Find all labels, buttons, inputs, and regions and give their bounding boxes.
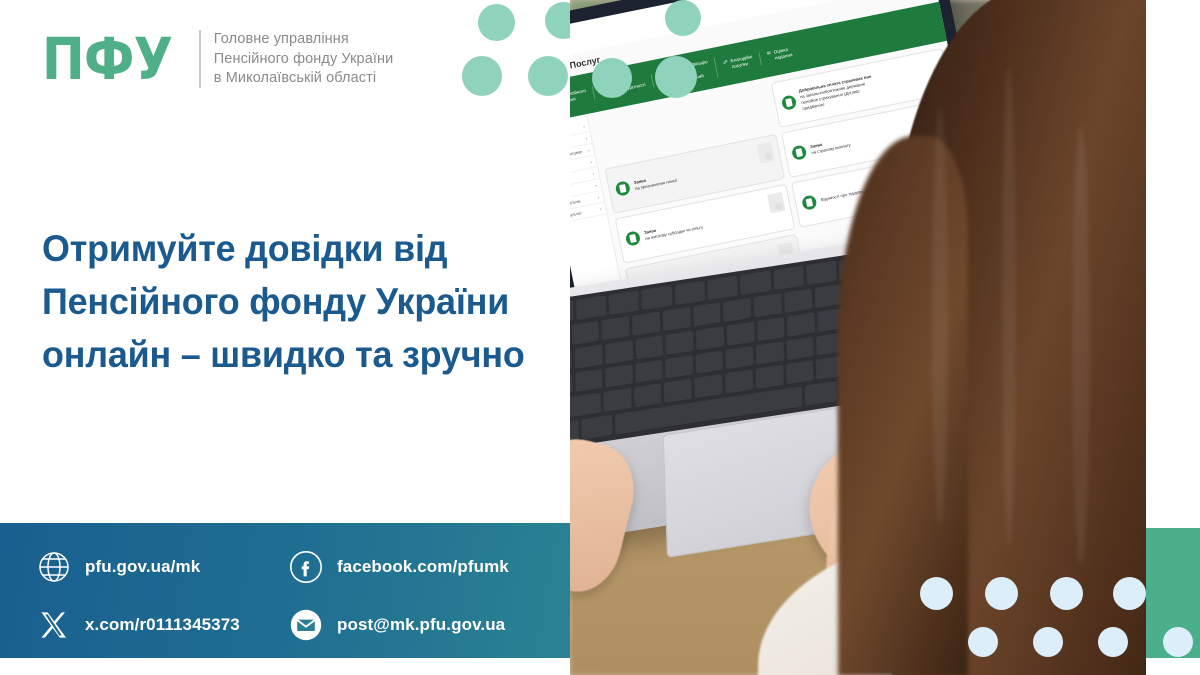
contact-facebook[interactable]: facebook.com/pfumk <box>288 549 509 585</box>
nav-item-rating[interactable]: ✉ Оцінка надання <box>759 44 800 64</box>
decorative-dot-blue <box>1098 627 1128 657</box>
contact-email-label: post@mk.pfu.gov.ua <box>337 615 505 635</box>
pfu-logo: ПФУ Головне управління Пенсійного фонду … <box>42 30 393 89</box>
contact-footer: pfu.gov.ua/mk facebook.com/pfumk x.com/r… <box>0 523 570 658</box>
decorative-dot-green <box>528 56 568 96</box>
logo-subtitle-line-2: Пенсійного фонду України <box>214 50 394 70</box>
cart-icon: ☍ <box>723 59 729 66</box>
hero-photo: ☀ · 🔊 Звук ⌖ Ре <box>570 0 1146 675</box>
logo-subtitle: Головне управління Пенсійного фонду Укра… <box>214 30 394 89</box>
contact-facebook-label: facebook.com/pfumk <box>337 557 509 577</box>
comment-icon: ✉ <box>766 50 771 57</box>
decorative-dot-blue <box>1113 577 1146 610</box>
contact-x-label: x.com/r0111345373 <box>85 615 240 635</box>
contact-x[interactable]: x.com/r0111345373 <box>36 607 240 643</box>
decorative-dot-green <box>478 4 515 41</box>
email-icon <box>288 607 324 643</box>
person-hair <box>892 0 1146 675</box>
decorative-dot-blue <box>920 577 953 610</box>
decorative-dot-blue <box>968 627 998 657</box>
headline-line-3: онлайн – швидко та зручно <box>42 328 546 381</box>
poster-canvas: ПФУ Головне управління Пенсійного фонду … <box>0 0 1200 675</box>
document-icon <box>781 94 798 111</box>
decorative-dot-green <box>655 56 697 98</box>
headline-line-1: Отримуйте довідки від <box>42 222 546 275</box>
document-icon <box>625 230 642 247</box>
nav-item-pension-certificate[interactable]: ⌕ Пошук пенсійного посвідчення <box>570 86 596 110</box>
contact-email[interactable]: post@mk.pfu.gov.ua <box>288 607 505 643</box>
document-icon <box>791 144 808 161</box>
globe-icon <box>36 549 72 585</box>
decorative-dot-blue <box>1050 577 1083 610</box>
logo-subtitle-line-3: в Миколаївській області <box>214 69 394 89</box>
pfu-logo-mark: ПФУ <box>42 30 172 88</box>
contact-website[interactable]: pfu.gov.ua/mk <box>36 549 200 585</box>
decorative-dot-blue <box>985 577 1018 610</box>
decorative-dot-green <box>462 56 502 96</box>
contact-website-label: pfu.gov.ua/mk <box>85 557 200 577</box>
facebook-icon <box>288 549 324 585</box>
page-title: Отримуйте довідки від Пенсійного фонду У… <box>42 222 546 381</box>
decorative-dot-blue <box>1033 627 1063 657</box>
decorative-dot-green <box>592 58 632 98</box>
document-icon <box>615 180 632 197</box>
logo-subtitle-line-1: Головне управління <box>214 30 394 50</box>
decorative-dot-green <box>665 0 701 36</box>
document-icon <box>801 194 818 211</box>
headline-line-2: Пенсійного фонду України <box>42 275 546 328</box>
logo-divider <box>199 30 201 88</box>
document-thumbnail-icon <box>767 192 785 214</box>
decorative-dot-blue <box>1163 627 1193 657</box>
document-thumbnail-icon <box>757 142 775 164</box>
laptop: ☀ · 🔊 Звук ⌖ Ре <box>570 6 1146 646</box>
nav-item-charity[interactable]: ☍ Благодійні покупки <box>716 52 762 74</box>
x-twitter-icon <box>36 607 72 643</box>
